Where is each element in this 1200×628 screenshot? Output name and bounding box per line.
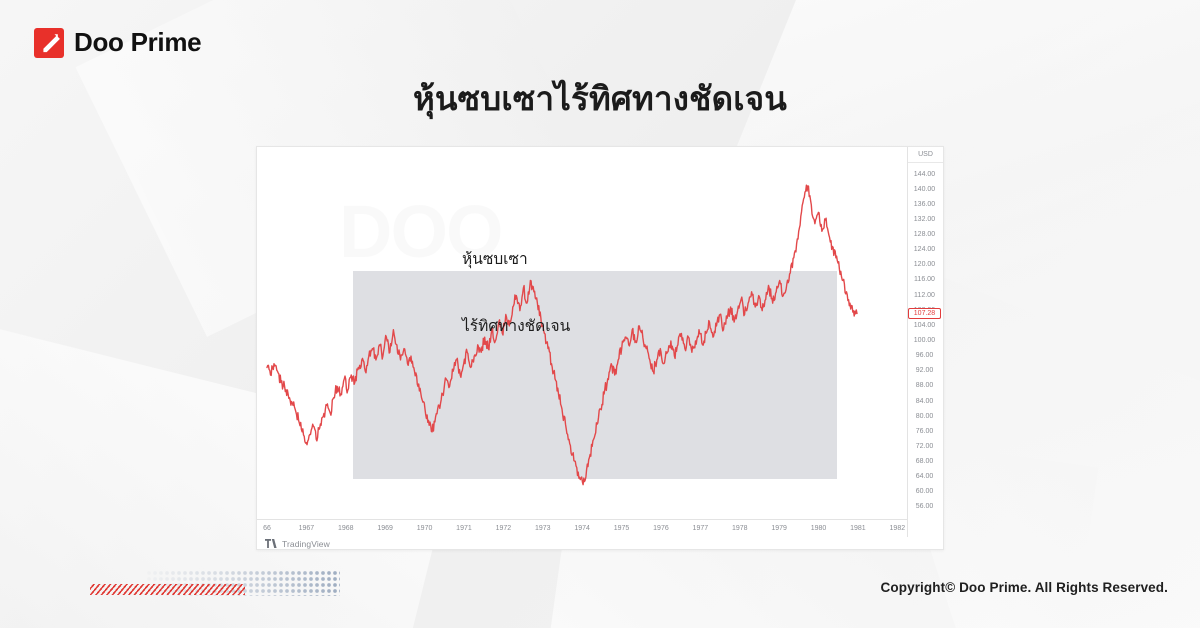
price-axis[interactable]: USD 144.00140.00136.00132.00128.00124.00… <box>907 147 943 537</box>
page-title: หุ้นซบเซาไร้ทิศทางชัดเจน <box>0 72 1200 125</box>
price-axis-tick: 64.00 <box>908 473 941 480</box>
price-axis-tick: 60.00 <box>908 488 941 495</box>
brand-wordmark: Doo Prime <box>74 27 201 58</box>
price-axis-tick: 128.00 <box>908 231 941 238</box>
time-axis-tick: 1979 <box>771 525 787 532</box>
time-axis-tick: 1981 <box>850 525 866 532</box>
time-axis-tick: 1982 <box>890 525 906 532</box>
chart-annotation-line-1: หุ้นซบเซา <box>462 249 570 271</box>
price-axis-tick: 140.00 <box>908 186 941 193</box>
price-axis-tick: 84.00 <box>908 398 941 405</box>
time-axis-tick: 1973 <box>535 525 551 532</box>
time-axis-tick: 1968 <box>338 525 354 532</box>
copyright-text: Copyright© Doo Prime. All Rights Reserve… <box>881 580 1168 595</box>
tradingview-attribution[interactable]: TradingView <box>265 535 330 553</box>
doo-prime-mark-icon <box>34 28 64 58</box>
chart-card: DOO หุ้นซบเซา ไร้ทิศทางชัดเจน USD 144.00… <box>256 146 944 550</box>
price-axis-tick: 104.00 <box>908 322 941 329</box>
price-axis-tick: 120.00 <box>908 261 941 268</box>
price-axis-tick: 100.00 <box>908 337 941 344</box>
time-axis-tick: 1969 <box>377 525 393 532</box>
time-axis-tick: 1970 <box>417 525 433 532</box>
price-axis-unit: USD <box>908 151 943 163</box>
time-axis-tick: 1980 <box>811 525 827 532</box>
price-axis-tick: 92.00 <box>908 367 941 374</box>
time-axis-tick: 1974 <box>574 525 590 532</box>
current-price-label: 107.28 <box>908 308 941 319</box>
chart-series-line <box>257 147 909 519</box>
time-axis-tick: 1977 <box>693 525 709 532</box>
time-axis-tick: 1975 <box>614 525 630 532</box>
price-axis-tick: 56.00 <box>908 503 941 510</box>
price-axis-tick: 76.00 <box>908 428 941 435</box>
time-axis-tick: 1971 <box>456 525 472 532</box>
price-axis-tick: 68.00 <box>908 458 941 465</box>
time-axis-tick: 66 <box>263 525 271 532</box>
chart-annotation-line-2: ไร้ทิศทางชัดเจน <box>462 316 570 338</box>
footer-decoration <box>90 570 340 604</box>
price-axis-tick: 72.00 <box>908 443 941 450</box>
price-axis-tick: 132.00 <box>908 216 941 223</box>
price-axis-tick: 144.00 <box>908 171 941 178</box>
time-axis-tick: 1978 <box>732 525 748 532</box>
tradingview-logo-icon <box>265 535 278 553</box>
price-axis-tick: 80.00 <box>908 413 941 420</box>
brand-logo: Doo Prime <box>34 27 201 58</box>
decoration-stripe-bar <box>90 584 245 595</box>
time-axis-tick: 1972 <box>496 525 512 532</box>
price-axis-tick: 124.00 <box>908 246 941 253</box>
price-axis-tick: 112.00 <box>908 292 941 299</box>
price-axis-tick: 136.00 <box>908 201 941 208</box>
price-axis-tick: 116.00 <box>908 276 941 283</box>
chart-plot-area[interactable]: DOO หุ้นซบเซา ไร้ทิศทางชัดเจน <box>257 147 909 519</box>
price-axis-tick: 96.00 <box>908 352 941 359</box>
tradingview-label: TradingView <box>282 539 330 549</box>
time-axis-tick: 1976 <box>653 525 669 532</box>
chart-annotation: หุ้นซบเซา ไร้ทิศทางชัดเจน <box>462 204 570 384</box>
time-axis-tick: 1967 <box>299 525 315 532</box>
price-axis-tick: 88.00 <box>908 382 941 389</box>
time-axis[interactable]: 6619671968196919701971197219731974197519… <box>257 519 907 539</box>
